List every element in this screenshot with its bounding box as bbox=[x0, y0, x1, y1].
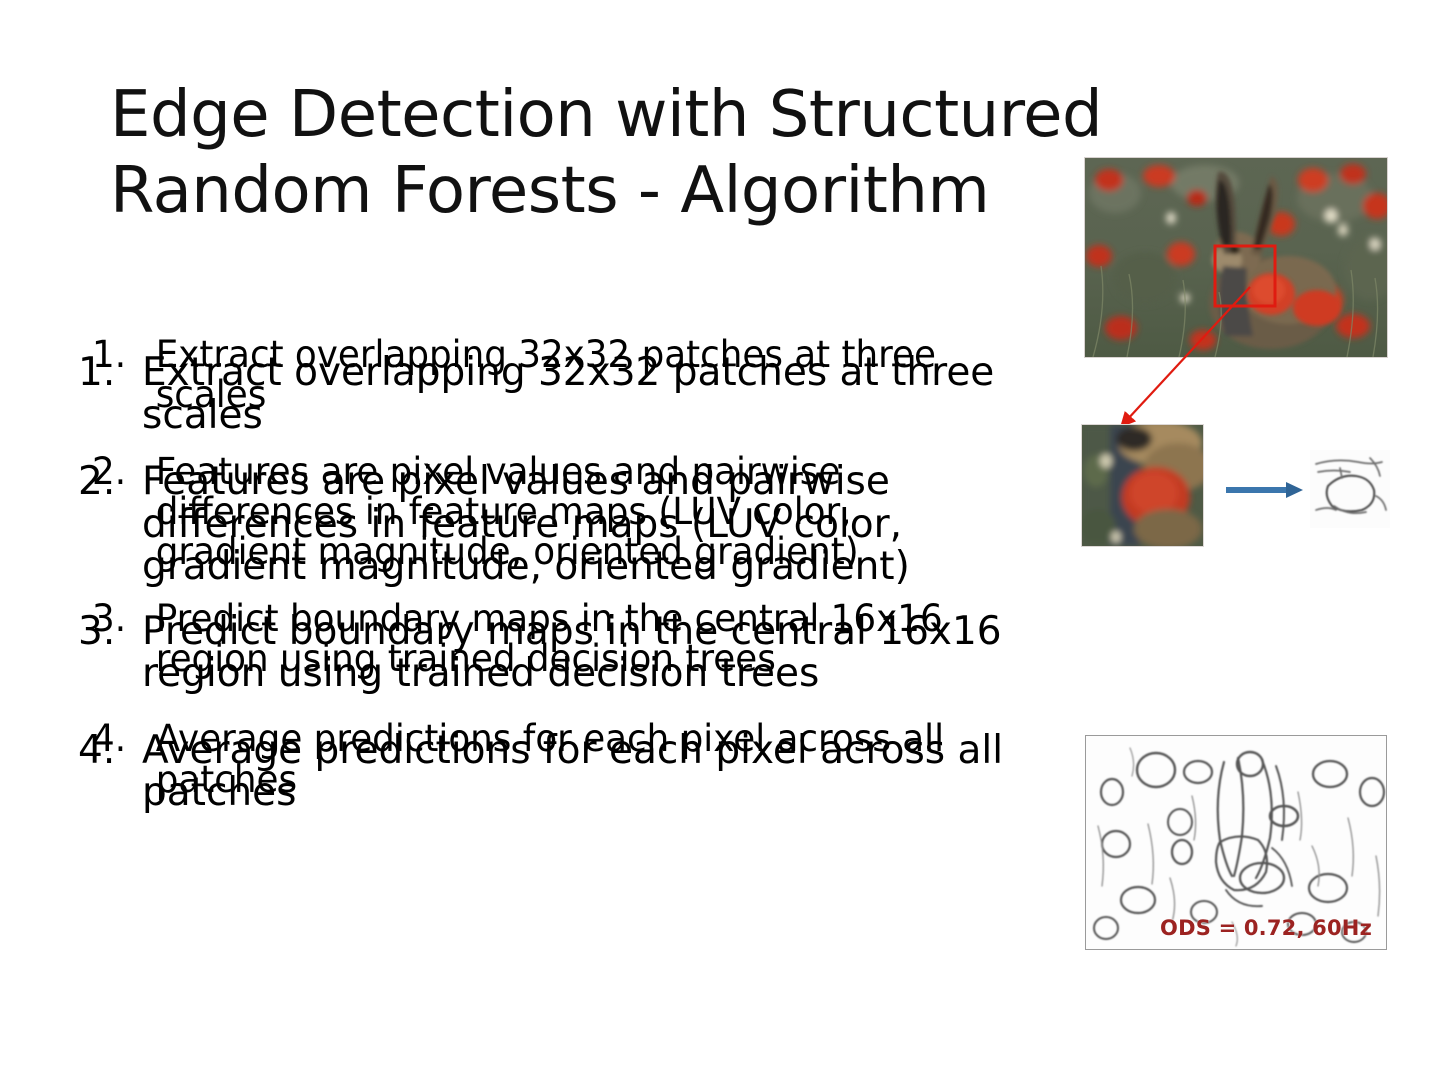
list-item-number: 4. bbox=[92, 719, 146, 759]
list-item-number: 1. bbox=[92, 335, 146, 375]
zoomed-patch-graphic bbox=[1082, 425, 1203, 546]
list-item: 1. Extract overlapping 32x32 patches at … bbox=[92, 335, 961, 416]
list-item-number: 3. bbox=[92, 599, 146, 639]
list-item-label: Predict boundary maps in the central 16x… bbox=[146, 599, 960, 680]
list-item-label: Extract overlapping 32x32 patches at thr… bbox=[146, 335, 960, 416]
predicted-edge-patch bbox=[1310, 450, 1390, 528]
list-item-label: Average predictions for each pixel acros… bbox=[146, 719, 960, 800]
hare-in-poppy-field-photo bbox=[1085, 158, 1387, 357]
blue-transform-arrow bbox=[1224, 479, 1304, 501]
hare-photo-graphic bbox=[1085, 158, 1387, 357]
predicted-edge-patch-graphic bbox=[1310, 450, 1390, 528]
ods-score-label: ODS = 0.72, 60Hz bbox=[1160, 916, 1372, 940]
list-item: 3. Predict boundary maps in the central … bbox=[92, 599, 961, 680]
list-item: 2. Features are pixel values and pairwis… bbox=[92, 452, 961, 573]
list-item: 4. Average predictions for each pixel ac… bbox=[92, 719, 961, 800]
list-item-label: Features are pixel values and pairwise d… bbox=[146, 452, 960, 573]
full-edge-map: ODS = 0.72, 60Hz bbox=[1085, 735, 1387, 950]
algorithm-step-list-layer-front: 1. Extract overlapping 32x32 patches at … bbox=[92, 335, 961, 830]
list-item-number: 2. bbox=[92, 452, 146, 492]
zoomed-image-patch bbox=[1082, 425, 1203, 546]
